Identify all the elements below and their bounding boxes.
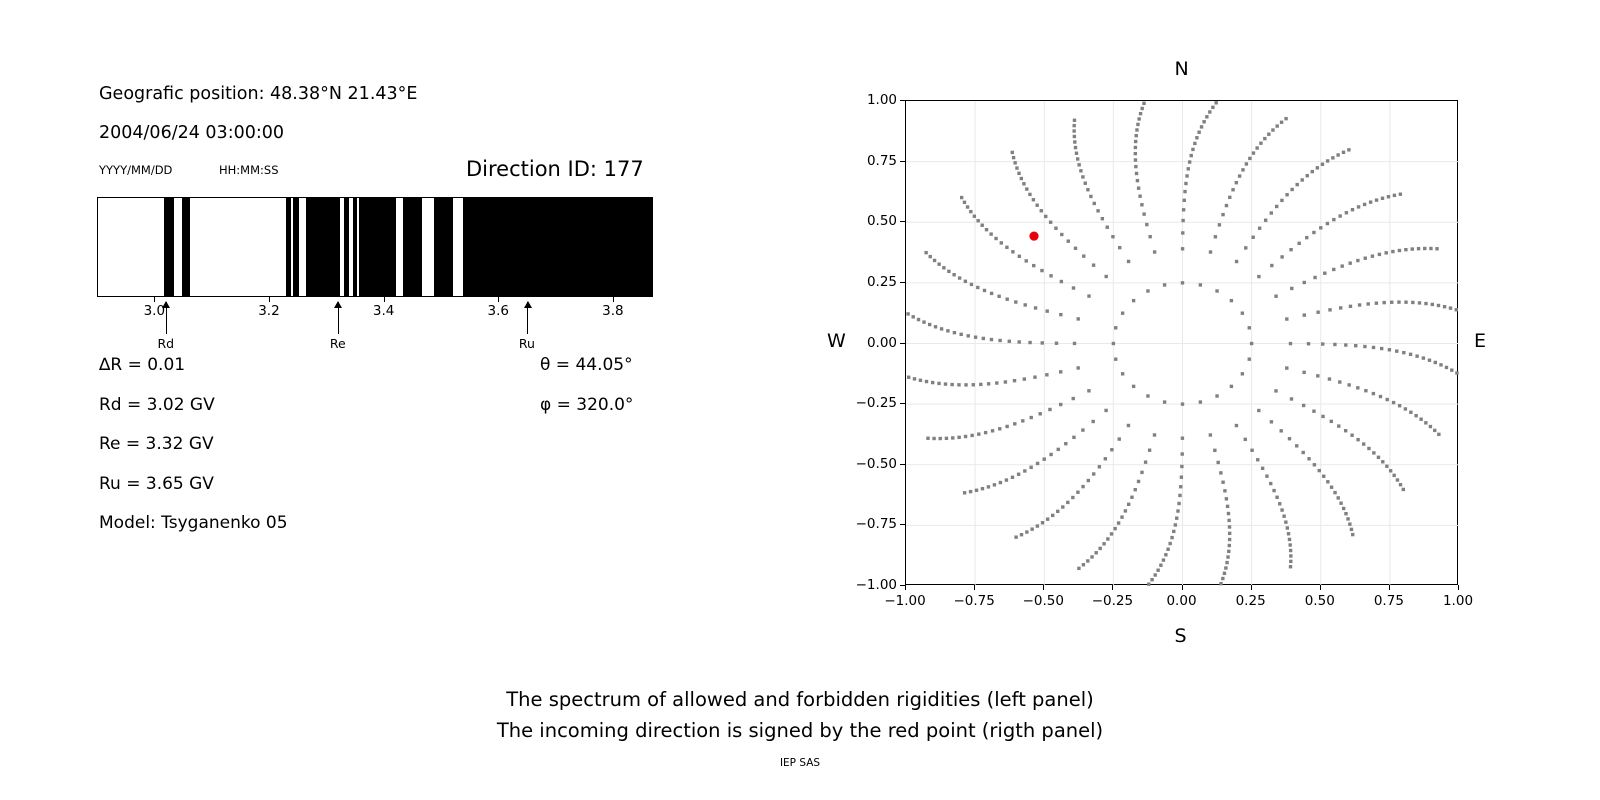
direction-dot xyxy=(1104,457,1107,460)
direction-dot xyxy=(1137,117,1140,120)
direction-dot xyxy=(1285,366,1288,369)
direction-dot xyxy=(1025,187,1028,190)
direction-dot xyxy=(1357,205,1360,208)
forbidden-band xyxy=(306,198,340,296)
direction-dot xyxy=(1081,175,1084,178)
direction-dot xyxy=(1267,133,1270,136)
direction-dot xyxy=(1332,218,1335,221)
direction-dot xyxy=(1431,303,1434,306)
direction-dot xyxy=(1011,151,1014,154)
direction-dot xyxy=(1060,233,1063,236)
direction-dot xyxy=(1295,183,1298,186)
direction-dot xyxy=(1301,178,1304,181)
direction-dot xyxy=(1163,283,1166,286)
direction-dot xyxy=(1398,249,1401,252)
direction-dot xyxy=(963,201,966,204)
direction-dot xyxy=(1197,131,1200,134)
direction-dot xyxy=(1182,208,1185,211)
direction-dot xyxy=(1404,407,1407,410)
direction-dot xyxy=(1415,354,1418,357)
direction-dot xyxy=(970,434,973,437)
direction-dot xyxy=(1090,555,1093,558)
marker-label: Re xyxy=(330,336,346,351)
direction-dot xyxy=(1148,448,1151,451)
direction-dot xyxy=(1074,247,1077,250)
direction-dot xyxy=(1170,536,1173,539)
direction-dot xyxy=(1284,117,1287,120)
direction-dot xyxy=(1076,491,1079,494)
direction-dot xyxy=(1385,251,1388,254)
direction-dot xyxy=(1257,275,1260,278)
direction-dot xyxy=(1450,368,1453,371)
spectrum-tick-label: 3.4 xyxy=(373,303,394,319)
direction-dot xyxy=(1015,166,1018,169)
direction-dot xyxy=(1106,537,1109,540)
direction-dot xyxy=(1163,400,1166,403)
direction-dot xyxy=(1059,313,1062,316)
direction-dot xyxy=(993,483,996,486)
direction-dot xyxy=(1255,146,1258,149)
direction-dot xyxy=(981,224,984,227)
direction-dot xyxy=(1231,188,1234,191)
direction-dot xyxy=(1205,115,1208,118)
direction-dot xyxy=(1180,475,1183,478)
direction-dot xyxy=(1132,299,1135,302)
direction-dot xyxy=(1091,420,1094,423)
direction-dot xyxy=(1318,469,1321,472)
theta-label: θ = 44.05° xyxy=(540,355,633,375)
direction-dot xyxy=(1043,457,1046,460)
direction-dot xyxy=(1313,276,1316,279)
direction-dot xyxy=(1289,565,1292,568)
direction-dot xyxy=(1252,151,1255,154)
direction-dot xyxy=(1121,311,1124,314)
x-tick xyxy=(1112,585,1113,590)
direction-dot xyxy=(999,481,1002,484)
direction-dot xyxy=(1041,521,1044,524)
direction-dot xyxy=(1082,254,1085,257)
direction-dot xyxy=(928,323,931,326)
direction-dot xyxy=(1214,101,1217,104)
forbidden-band xyxy=(293,198,299,296)
direction-dot xyxy=(1402,488,1405,491)
direction-dot xyxy=(1181,219,1184,222)
direction-dot xyxy=(1114,357,1117,360)
direction-dot xyxy=(925,380,928,383)
direction-dot xyxy=(1248,357,1251,360)
direction-dot xyxy=(1005,425,1008,428)
direction-dot xyxy=(1184,182,1187,185)
direction-dot xyxy=(1326,159,1329,162)
direction-dot xyxy=(1344,343,1347,346)
direction-dot xyxy=(1423,247,1426,250)
direction-dot xyxy=(1250,449,1253,452)
direction-dot xyxy=(1140,471,1143,474)
direction-dot xyxy=(1024,303,1027,306)
direction-dot xyxy=(1175,516,1178,519)
direction-dot xyxy=(1127,503,1130,506)
direction-dot xyxy=(1362,442,1365,445)
direction-dot xyxy=(924,251,927,254)
direction-dot xyxy=(1221,481,1224,484)
direction-dot xyxy=(1013,422,1016,425)
direction-dot xyxy=(1148,235,1151,238)
direction-dot xyxy=(1124,509,1127,512)
direction-dot xyxy=(1256,458,1259,461)
direction-dot xyxy=(1093,202,1096,205)
direction-dot xyxy=(1084,182,1087,185)
direction-dot xyxy=(1388,348,1391,351)
direction-dot xyxy=(1216,461,1219,464)
direction-dot xyxy=(970,283,973,286)
direction-dot xyxy=(1077,317,1080,320)
direction-dot xyxy=(1136,179,1139,182)
direction-dot xyxy=(998,427,1001,430)
direction-dot xyxy=(1150,578,1153,581)
direction-dot xyxy=(1218,223,1221,226)
direction-dot xyxy=(1221,577,1224,580)
direction-dot xyxy=(1028,193,1031,196)
direction-dot xyxy=(976,219,979,222)
direction-dot xyxy=(1455,308,1458,311)
direction-dot xyxy=(1137,186,1140,189)
direction-dot xyxy=(1326,222,1329,225)
direction-dot xyxy=(1339,502,1342,505)
direction-dot xyxy=(1228,532,1231,535)
direction-dot xyxy=(1328,308,1331,311)
direction-dot xyxy=(995,381,998,384)
direction-dot xyxy=(1321,163,1324,166)
direction-dot xyxy=(1344,429,1347,432)
x-tick xyxy=(1389,585,1390,590)
direction-dot xyxy=(1135,134,1138,137)
direction-dot xyxy=(1013,161,1016,164)
direction-dot xyxy=(1159,564,1162,567)
direction-dot xyxy=(1059,370,1062,373)
direction-dot xyxy=(1323,272,1326,275)
direction-dot xyxy=(1140,107,1143,110)
direction-dot xyxy=(1409,411,1412,414)
direction-dot xyxy=(1074,146,1077,149)
direction-dot xyxy=(1098,465,1101,468)
direction-dot xyxy=(1422,356,1425,359)
direction-dot xyxy=(1424,302,1427,305)
direction-dot xyxy=(1060,280,1063,283)
direction-dot xyxy=(1134,165,1137,168)
direction-dot xyxy=(964,280,967,283)
direction-dot xyxy=(1366,302,1369,305)
direction-dot xyxy=(1011,250,1014,253)
direction-dot xyxy=(1185,174,1188,177)
direction-dot xyxy=(1072,124,1075,127)
spectrum-tick xyxy=(154,297,155,302)
y-tick xyxy=(900,282,905,283)
direction-dot xyxy=(1244,246,1247,249)
direction-dot xyxy=(1191,148,1194,151)
direction-dot xyxy=(1303,281,1306,284)
direction-dot xyxy=(1190,154,1193,157)
direction-dot xyxy=(1417,247,1420,250)
direction-dot xyxy=(983,289,986,292)
direction-dot xyxy=(1061,505,1064,508)
direction-dot xyxy=(1396,478,1399,481)
direction-dot xyxy=(1393,194,1396,197)
direction-dot xyxy=(1414,414,1417,417)
direction-dot xyxy=(1434,361,1437,364)
direction-dot xyxy=(1166,548,1169,551)
direction-dot xyxy=(1036,524,1039,527)
forbidden-band xyxy=(286,198,291,296)
compass-west: W xyxy=(827,330,846,352)
forbidden-band xyxy=(182,198,189,296)
direction-dot xyxy=(1008,340,1011,343)
direction-dot xyxy=(1181,452,1184,455)
x-tick xyxy=(1043,585,1044,590)
direction-dot xyxy=(960,196,963,199)
direction-dot xyxy=(1288,538,1291,541)
direction-dot xyxy=(1282,514,1285,517)
direction-dot xyxy=(1280,508,1283,511)
direction-dot xyxy=(1223,489,1226,492)
direction-dot xyxy=(1348,522,1351,525)
direction-dot xyxy=(1114,326,1117,329)
direction-dot xyxy=(1225,497,1228,500)
direction-dot xyxy=(998,339,1001,342)
direction-dot xyxy=(1140,203,1143,206)
direction-dot xyxy=(1117,521,1120,524)
direction-dot xyxy=(1326,480,1329,483)
direction-dot xyxy=(1338,214,1341,217)
direction-dot xyxy=(1066,501,1069,504)
direction-dot xyxy=(1104,409,1107,412)
direction-dot xyxy=(1227,512,1230,515)
direction-dot xyxy=(1295,444,1298,447)
direction-dot xyxy=(1005,297,1008,300)
direction-dot xyxy=(1153,250,1156,253)
direction-dot xyxy=(1153,433,1156,436)
direction-dot xyxy=(1257,409,1260,412)
datetime-label: 2004/06/24 03:00:00 xyxy=(99,123,284,143)
direction-dot xyxy=(1389,469,1392,472)
direction-dot xyxy=(973,215,976,218)
direction-dot xyxy=(1110,532,1113,535)
direction-dot xyxy=(964,383,967,386)
re-value-label: Re = 3.32 GV xyxy=(99,434,214,454)
direction-dot xyxy=(1342,151,1345,154)
direction-dot xyxy=(945,437,948,440)
direction-dot xyxy=(1208,110,1211,113)
direction-dot xyxy=(1321,415,1324,418)
direction-dot xyxy=(1289,342,1292,345)
direction-dot xyxy=(1347,383,1350,386)
direction-dot xyxy=(1134,146,1137,149)
direction-dot xyxy=(1057,448,1060,451)
direction-dot xyxy=(969,210,972,213)
direction-dot xyxy=(1330,420,1333,423)
compass-north: N xyxy=(1175,58,1189,80)
direction-dot xyxy=(1146,289,1149,292)
direction-dot xyxy=(964,435,967,438)
y-tick xyxy=(900,343,905,344)
x-tick xyxy=(1251,585,1252,590)
y-tick-label: −0.25 xyxy=(843,395,897,411)
direction-dot xyxy=(1241,311,1244,314)
direction-dot xyxy=(1092,263,1095,266)
direction-dot xyxy=(1106,226,1109,229)
y-tick-label: −0.50 xyxy=(843,456,897,472)
direction-dot xyxy=(1270,264,1273,267)
direction-dot xyxy=(1146,394,1149,397)
direction-dot xyxy=(1040,209,1043,212)
direction-dot xyxy=(1235,181,1238,184)
direction-dot xyxy=(1297,242,1300,245)
direction-dot xyxy=(1435,247,1438,250)
direction-dot xyxy=(1134,152,1137,155)
direction-dot xyxy=(1040,269,1043,272)
direction-dot xyxy=(1312,231,1315,234)
spectrum-tick-label: 3.6 xyxy=(487,303,508,319)
direction-dot xyxy=(1275,205,1278,208)
direction-dot xyxy=(1372,392,1375,395)
direction-dot xyxy=(1235,260,1238,263)
direction-dot xyxy=(1289,549,1292,552)
direction-dot xyxy=(1033,375,1036,378)
direction-dot xyxy=(1226,505,1229,508)
direction-dot xyxy=(977,432,980,435)
direction-dot xyxy=(1302,451,1305,454)
direction-dot xyxy=(1429,425,1432,428)
direction-dot xyxy=(907,376,910,379)
x-tick-label: 0.50 xyxy=(1305,593,1335,609)
direction-dot xyxy=(1332,268,1335,271)
direction-dot xyxy=(940,327,943,330)
y-tick-label: 0.75 xyxy=(843,153,897,169)
spectrum-tick xyxy=(384,297,385,302)
y-tick-label: 0.25 xyxy=(843,274,897,290)
direction-dot xyxy=(1177,502,1180,505)
direction-dot xyxy=(1077,163,1080,166)
direction-dot xyxy=(952,273,955,276)
direction-dot xyxy=(1089,195,1092,198)
direction-dot xyxy=(982,337,985,340)
direction-dot xyxy=(969,490,972,493)
direction-dot xyxy=(979,383,982,386)
direction-dot xyxy=(1213,449,1216,452)
direction-dot xyxy=(1345,211,1348,214)
direction-dot xyxy=(1354,344,1357,347)
direction-dot xyxy=(1138,194,1141,197)
direction-dot xyxy=(1176,509,1179,512)
direction-dot xyxy=(1073,135,1076,138)
direction-dot xyxy=(963,491,966,494)
direction-dot xyxy=(1067,239,1070,242)
direction-dot xyxy=(932,437,935,440)
direction-dot xyxy=(1139,112,1142,115)
direction-dot xyxy=(1280,199,1283,202)
x-tick-label: 0.25 xyxy=(1236,593,1266,609)
x-tick-label: −0.75 xyxy=(953,593,994,609)
direction-dot xyxy=(1025,530,1028,533)
direction-dot xyxy=(1018,340,1021,343)
direction-scatter-svg xyxy=(906,101,1459,586)
direction-dot xyxy=(1110,448,1113,451)
phi-label: φ = 320.0° xyxy=(540,395,633,415)
direction-dot xyxy=(1202,120,1205,123)
direction-dot xyxy=(1032,264,1035,267)
direction-dot xyxy=(1199,283,1202,286)
direction-dot xyxy=(1387,195,1390,198)
x-tick xyxy=(974,585,975,590)
direction-dot xyxy=(1330,486,1333,489)
direction-dot xyxy=(947,270,950,273)
direction-dot xyxy=(1102,542,1105,545)
direction-dot xyxy=(1142,102,1145,105)
direction-dot xyxy=(1156,569,1159,572)
direction-dot xyxy=(974,336,977,339)
direction-dot xyxy=(1358,303,1361,306)
direction-dot xyxy=(1219,582,1222,585)
direction-dot xyxy=(1312,409,1315,412)
direction-dot xyxy=(957,436,960,439)
direction-dot xyxy=(1341,264,1344,267)
direction-dot xyxy=(1350,528,1353,531)
direction-dot xyxy=(1302,371,1305,374)
direction-dot xyxy=(1224,566,1227,569)
y-tick xyxy=(900,100,905,101)
direction-dot xyxy=(1023,377,1026,380)
direction-dot xyxy=(1227,519,1230,522)
direction-dot xyxy=(1227,550,1230,553)
direction-dot xyxy=(1021,419,1024,422)
x-tick-label: −0.25 xyxy=(1092,593,1133,609)
direction-dot xyxy=(1112,342,1115,345)
rigidity-spectrum-chart xyxy=(97,197,653,297)
direction-dot xyxy=(1404,300,1407,303)
direction-dot xyxy=(1118,246,1121,249)
x-tick xyxy=(905,585,906,590)
direction-dot xyxy=(1081,428,1084,431)
marker-label: Rd xyxy=(157,336,174,351)
direction-dot xyxy=(1073,119,1076,122)
delta-r-label: ∆R = 0.01 xyxy=(99,355,185,375)
direction-dot xyxy=(1339,306,1342,309)
forbidden-band xyxy=(359,198,396,296)
direction-dot xyxy=(1132,385,1135,388)
direction-dot xyxy=(1135,172,1138,175)
x-tick xyxy=(1182,585,1183,590)
direction-dot xyxy=(1075,152,1078,155)
direction-dot xyxy=(934,325,937,328)
direction-dot xyxy=(1135,128,1138,131)
credit-label: IEP SAS xyxy=(0,757,1600,769)
direction-dot xyxy=(1215,289,1218,292)
direction-dot xyxy=(1059,403,1062,406)
direction-dot xyxy=(1044,215,1047,218)
direction-dot xyxy=(1049,453,1052,456)
direction-dot xyxy=(1054,227,1057,230)
direction-dot xyxy=(1285,193,1288,196)
direction-dot xyxy=(926,437,929,440)
direction-dot xyxy=(950,383,953,386)
direction-dot xyxy=(1409,353,1412,356)
direction-dot xyxy=(1005,246,1008,249)
direction-dot xyxy=(1392,401,1395,404)
compass-east: E xyxy=(1474,330,1486,352)
direction-dot xyxy=(990,338,993,341)
direction-dot xyxy=(1071,496,1074,499)
y-tick xyxy=(900,221,905,222)
direction-dot xyxy=(1437,304,1440,307)
